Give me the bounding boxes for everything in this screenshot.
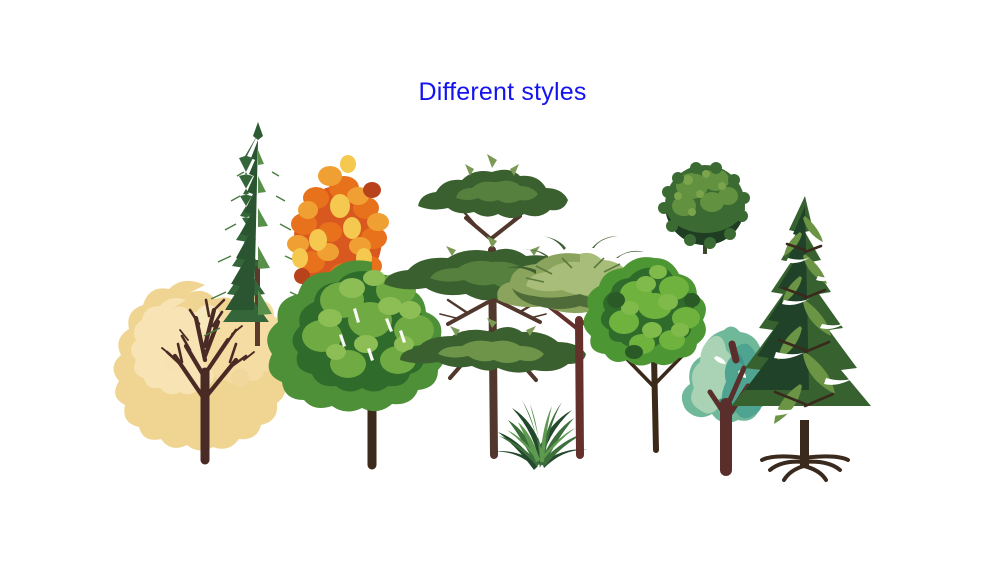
shrub-round-bush <box>658 162 750 254</box>
tree-styles-illustration <box>0 0 1005 565</box>
tree-bright-green <box>583 257 705 450</box>
conifer-roots <box>762 456 848 480</box>
spruce-tip <box>253 122 263 140</box>
round-bush-foliage <box>658 162 750 249</box>
foliage-spot-3 <box>231 369 249 387</box>
spruce-shadow-left <box>225 140 258 310</box>
large-conifer-foliage <box>731 196 871 424</box>
shrub-agave <box>494 400 588 470</box>
agave-leaves <box>494 400 588 470</box>
illustration-canvas: Different styles <box>0 0 1005 565</box>
large-conifer-trunk-roots <box>762 420 848 480</box>
